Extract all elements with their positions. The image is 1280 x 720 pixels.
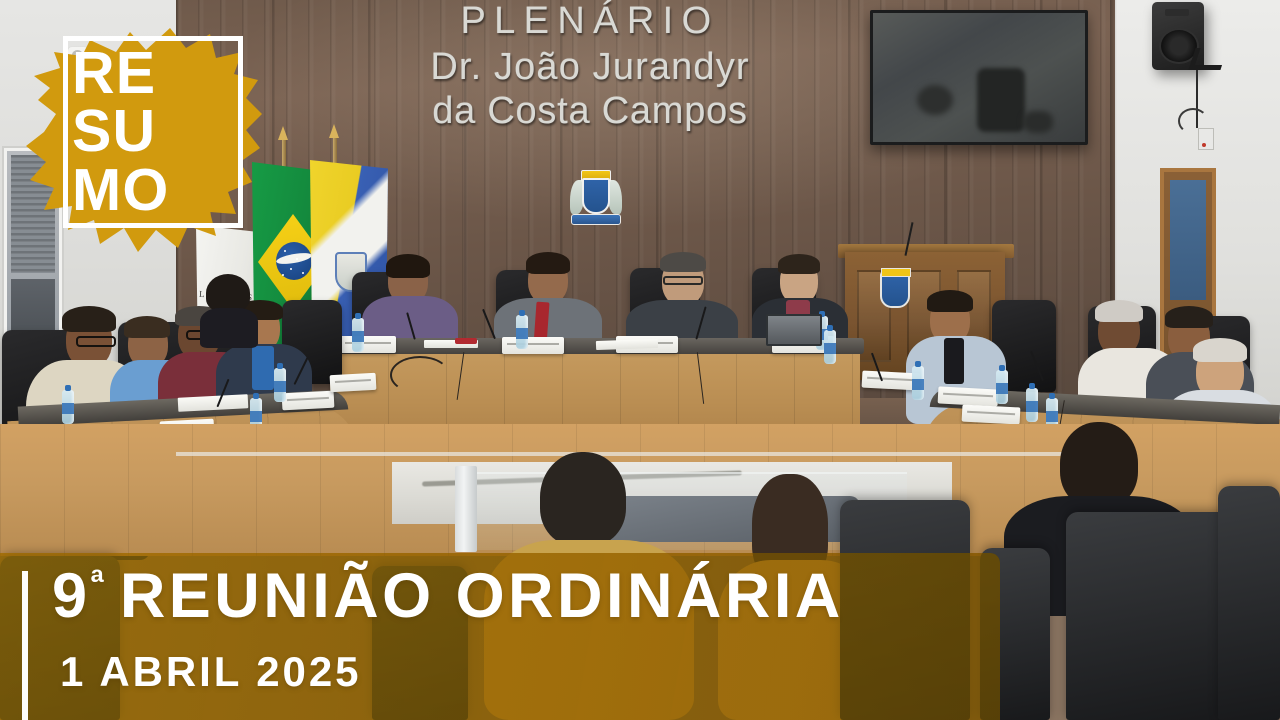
- podium-coat-of-arms-icon: [880, 272, 910, 308]
- nameplate: [340, 336, 396, 353]
- cable-loop: [390, 356, 450, 394]
- flagpole-br: [282, 140, 286, 168]
- glass-barrier-post: [455, 466, 477, 552]
- flagpole-mun: [333, 138, 337, 164]
- red-folder: [455, 338, 477, 344]
- wall-sign-line-1: PLENÁRIO: [380, 2, 800, 42]
- nameplate: [282, 391, 335, 411]
- banner-title-ordinal: ª: [91, 562, 104, 603]
- water-bottle: [274, 368, 286, 402]
- banner-title-number: 9: [52, 561, 91, 631]
- water-bottle: [912, 366, 924, 400]
- video-frame: PLENÁRIO Dr. João Jurandyr da Costa Camp…: [0, 0, 1280, 720]
- wall-outlet: [1198, 128, 1214, 150]
- eyeglasses-icon: [663, 276, 703, 285]
- wall-sign-line-2: Dr. João Jurandyr: [380, 46, 800, 90]
- shirt: [944, 338, 964, 384]
- wall-trim-rail: [176, 452, 1116, 456]
- banner-accent-rule: [22, 571, 28, 720]
- water-bottle: [1026, 388, 1038, 422]
- desk-laptop: [766, 314, 822, 346]
- nameplate: [962, 404, 1021, 424]
- resumo-line-3: MO: [72, 161, 237, 219]
- resumo-line-2: SU: [72, 102, 237, 160]
- banner-title: 9ªREUNIÃO ORDINÁRIA: [52, 565, 844, 628]
- banner-title-text: REUNIÃO ORDINÁRIA: [120, 561, 844, 631]
- resumo-line-1: RE: [72, 44, 237, 102]
- audience-seat: [1066, 512, 1236, 720]
- nameplate: [502, 337, 564, 354]
- eyeglasses-icon: [76, 336, 116, 347]
- plenary-wall-sign: PLENÁRIO Dr. João Jurandyr da Costa Camp…: [380, 2, 800, 133]
- water-bottle: [824, 330, 836, 364]
- wall-television: [870, 10, 1088, 145]
- flag-finial-br: [278, 126, 288, 140]
- wall-sign-line-3: da Costa Campos: [380, 90, 800, 134]
- water-bottle: [62, 390, 74, 424]
- shirt: [252, 346, 274, 390]
- municipal-coat-of-arms-icon: [568, 168, 624, 232]
- flag-finial-mun: [329, 124, 339, 138]
- resumo-badge: RE SU MO: [20, 22, 265, 254]
- water-bottle: [516, 315, 528, 349]
- resumo-text: RE SU MO: [72, 44, 237, 219]
- audience-seat: [1218, 486, 1280, 720]
- nameplate: [330, 373, 377, 392]
- water-bottle: [996, 370, 1008, 404]
- nameplate: [938, 386, 999, 406]
- water-bottle: [352, 318, 364, 352]
- banner-date: 1 ABRIL 2025: [60, 648, 361, 696]
